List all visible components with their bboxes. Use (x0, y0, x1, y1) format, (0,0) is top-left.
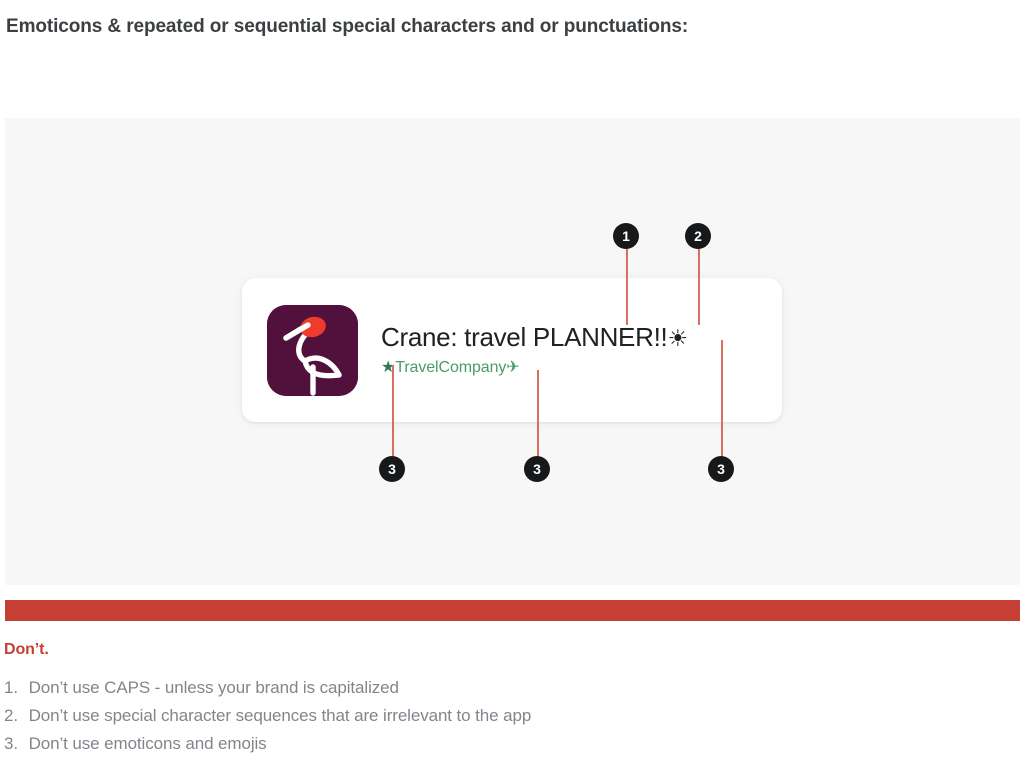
dont-heading: Don’t. (4, 641, 49, 659)
app-text-block: Crane: travel PLANNER!!☀ ★TravelCompany✈ (381, 323, 688, 377)
sun-emoji: ☀ (667, 325, 687, 351)
page-title: Emoticons & repeated or sequential speci… (6, 16, 688, 38)
list-item-text: Don’t use CAPS - unless your brand is ca… (24, 678, 399, 697)
crane-bird-logo-icon (267, 305, 358, 396)
callout-marker-2[interactable]: 2 (685, 223, 711, 249)
callout-marker-1[interactable]: 1 (613, 223, 639, 249)
list-item-text: Don’t use special character sequences th… (24, 706, 531, 725)
list-item-number: 1. (4, 674, 24, 702)
callout-marker-3[interactable]: 3 (524, 456, 550, 482)
illustration-panel: Crane: travel PLANNER!!☀ ★TravelCompany✈… (5, 118, 1020, 585)
dont-list-item: 1. Don’t use CAPS - unless your brand is… (4, 674, 531, 702)
list-item-number: 2. (4, 702, 24, 730)
dont-list-item: 3. Don’t use emoticons and emojis (4, 730, 531, 758)
airplane-emoji: ✈ (506, 359, 519, 376)
dont-list-item: 2. Don’t use special character sequences… (4, 702, 531, 730)
app-title-text: Crane: travel PLANNER!! (381, 322, 667, 352)
developer-text: TravelCompany (395, 359, 506, 376)
section-divider-bar (5, 600, 1020, 621)
dont-guidelines-list: 1. Don’t use CAPS - unless your brand is… (4, 674, 531, 758)
leader-line-2 (698, 249, 700, 325)
leader-line-1 (626, 249, 628, 325)
app-listing-card: Crane: travel PLANNER!!☀ ★TravelCompany✈ (242, 278, 782, 422)
app-title: Crane: travel PLANNER!!☀ (381, 323, 688, 353)
list-item-number: 3. (4, 730, 24, 758)
leader-line-3 (721, 340, 723, 456)
leader-line-3 (392, 365, 394, 456)
callout-marker-3[interactable]: 3 (379, 456, 405, 482)
app-developer-name: ★TravelCompany✈ (381, 358, 688, 377)
leader-line-3 (537, 370, 539, 456)
list-item-text: Don’t use emoticons and emojis (24, 734, 267, 753)
callout-marker-3[interactable]: 3 (708, 456, 734, 482)
